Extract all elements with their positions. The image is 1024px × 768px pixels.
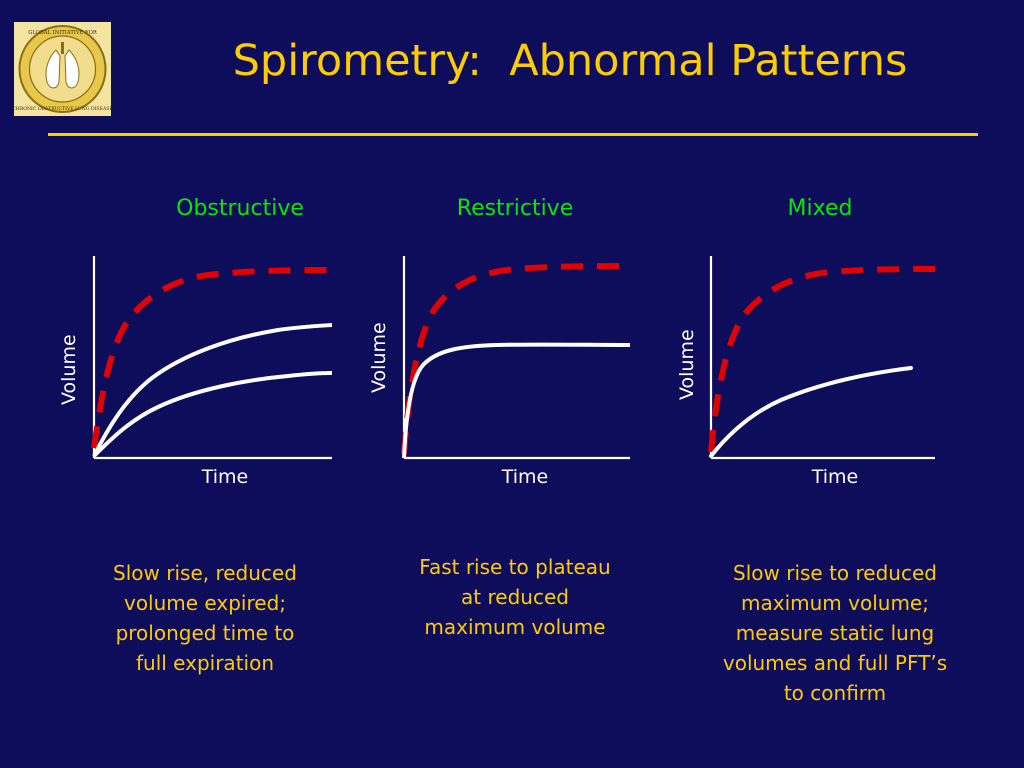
series-mixed — [711, 368, 911, 456]
series-normal-reference — [711, 269, 937, 452]
chart-mixed — [665, 248, 965, 498]
column-heading-mixed: Mixed — [700, 196, 940, 221]
y-axis-label-restrictive: Volume — [368, 322, 390, 393]
column-heading-restrictive: Restrictive — [395, 196, 635, 221]
svg-text:CHRONIC OBSTRUCTIVE LUNG DISEA: CHRONIC OBSTRUCTIVE LUNG DISEASE — [14, 106, 111, 112]
caption-obstructive: Slow rise, reduced volume expired; prolo… — [75, 558, 335, 678]
chart-obstructive — [48, 248, 348, 498]
slide-canvas: GLOBAL INITIATIVE FOR CHRONIC OBSTRUCTIV… — [0, 0, 1024, 768]
x-axis-label-restrictive: Time — [450, 466, 600, 488]
svg-text:GLOBAL INITIATIVE FOR: GLOBAL INITIATIVE FOR — [28, 30, 98, 36]
series-restrictive — [404, 345, 630, 458]
y-axis-label-obstructive: Volume — [58, 334, 80, 405]
caption-mixed: Slow rise to reduced maximum volume; mea… — [690, 558, 980, 708]
gold-logo: GLOBAL INITIATIVE FOR CHRONIC OBSTRUCTIV… — [14, 22, 111, 116]
x-axis-label-obstructive: Time — [150, 466, 300, 488]
page-title: Spirometry: Abnormal Patterns — [140, 36, 1000, 86]
chart-restrictive — [358, 248, 658, 498]
caption-restrictive: Fast rise to plateau at reduced maximum … — [385, 552, 645, 642]
column-heading-obstructive: Obstructive — [120, 196, 360, 221]
series-obstructive-lower — [94, 373, 332, 456]
y-axis-label-mixed: Volume — [676, 329, 698, 400]
series-normal-reference — [404, 266, 630, 454]
x-axis-label-mixed: Time — [760, 466, 910, 488]
title-divider — [48, 133, 978, 136]
series-obstructive-upper — [94, 325, 332, 456]
